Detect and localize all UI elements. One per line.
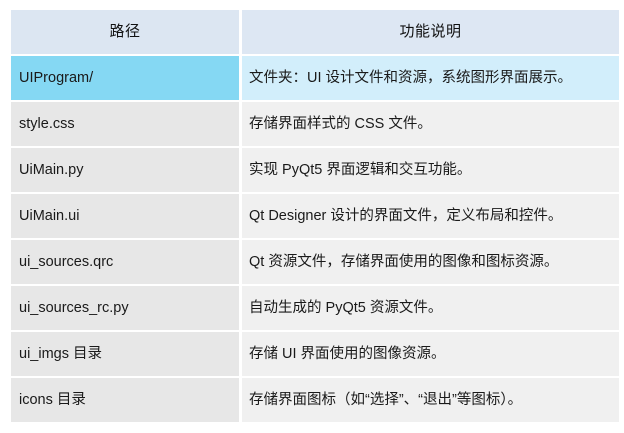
cell-description: 存储界面图标（如“选择”、“退出”等图标）。 (242, 378, 619, 422)
cell-path: style.css (11, 102, 239, 146)
table-body: UIProgram/文件夹：UI 设计文件和资源，系统图形界面展示。style.… (11, 56, 619, 422)
table-row: ui_imgs 目录存储 UI 界面使用的图像资源。 (11, 332, 619, 376)
cell-path: ui_imgs 目录 (11, 332, 239, 376)
cell-description: 文件夹：UI 设计文件和资源，系统图形界面展示。 (242, 56, 619, 100)
table-row: style.css存储界面样式的 CSS 文件。 (11, 102, 619, 146)
cell-path: UiMain.ui (11, 194, 239, 238)
cell-path: UIProgram/ (11, 56, 239, 100)
cell-description: 自动生成的 PyQt5 资源文件。 (242, 286, 619, 330)
cell-path: icons 目录 (11, 378, 239, 422)
table-row: icons 目录存储界面图标（如“选择”、“退出”等图标）。 (11, 378, 619, 422)
cell-description: Qt 资源文件，存储界面使用的图像和图标资源。 (242, 240, 619, 284)
cell-description: 存储界面样式的 CSS 文件。 (242, 102, 619, 146)
cell-path: ui_sources.qrc (11, 240, 239, 284)
table-row: UiMain.uiQt Designer 设计的界面文件，定义布局和控件。 (11, 194, 619, 238)
column-header-path: 路径 (11, 10, 239, 54)
cell-description: 实现 PyQt5 界面逻辑和交互功能。 (242, 148, 619, 192)
cell-description: Qt Designer 设计的界面文件，定义布局和控件。 (242, 194, 619, 238)
cell-description: 存储 UI 界面使用的图像资源。 (242, 332, 619, 376)
table-row: ui_sources.qrcQt 资源文件，存储界面使用的图像和图标资源。 (11, 240, 619, 284)
cell-path: UiMain.py (11, 148, 239, 192)
file-structure-table: 路径 功能说明 UIProgram/文件夹：UI 设计文件和资源，系统图形界面展… (8, 8, 622, 424)
table-row: UiMain.py实现 PyQt5 界面逻辑和交互功能。 (11, 148, 619, 192)
cell-path: ui_sources_rc.py (11, 286, 239, 330)
table-header-row: 路径 功能说明 (11, 10, 619, 54)
table-header: 路径 功能说明 (11, 10, 619, 54)
column-header-description: 功能说明 (242, 10, 619, 54)
table-row: ui_sources_rc.py自动生成的 PyQt5 资源文件。 (11, 286, 619, 330)
table-row: UIProgram/文件夹：UI 设计文件和资源，系统图形界面展示。 (11, 56, 619, 100)
file-structure-table-container: 路径 功能说明 UIProgram/文件夹：UI 设计文件和资源，系统图形界面展… (8, 8, 616, 424)
